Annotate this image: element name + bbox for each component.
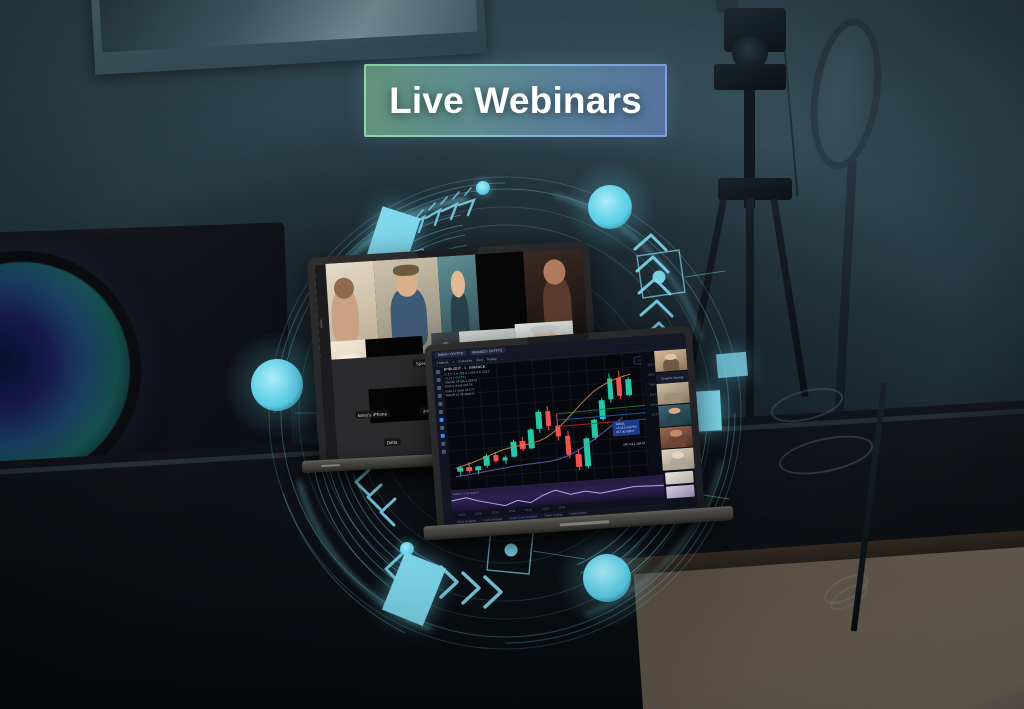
vignette-overlay <box>0 0 1024 709</box>
webinar-hero-image: Jabari Speech kerry's iPhone iPhone C De… <box>0 0 1024 709</box>
